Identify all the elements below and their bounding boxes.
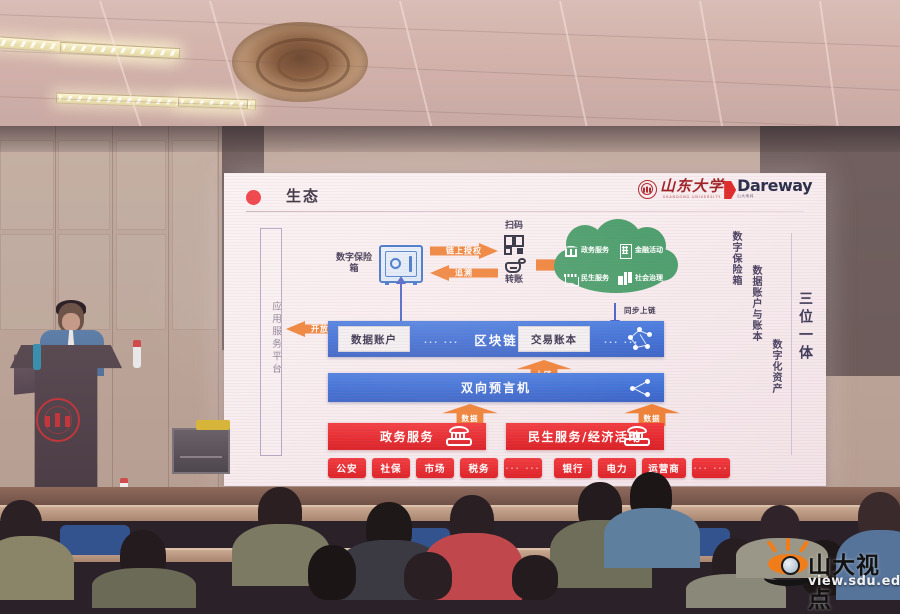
- audience-head: [404, 552, 452, 600]
- chip-data-account: 数据账户: [338, 326, 410, 352]
- ceiling: [0, 0, 900, 128]
- ceiling-panel-line: [559, 1, 592, 128]
- blockchain-bar: 数据账户 ··· ··· 区块链 交易账本 ··· ···: [328, 321, 664, 357]
- wall-column: [168, 126, 169, 506]
- audience-shoulders: [604, 508, 700, 568]
- network-nodes-icon: [628, 327, 652, 351]
- cloud-item-label: 金融活动: [635, 246, 663, 254]
- wall-dark-recess: [818, 126, 900, 376]
- chip-transaction-ledger: 交易账本: [518, 326, 590, 352]
- wall-column: [112, 126, 113, 506]
- arrow-traceability: 追溯: [430, 265, 498, 281]
- ceiling-panel-line: [699, 1, 727, 128]
- chain-dots: ··· ···: [424, 338, 459, 347]
- application-scenarios-cloud: 政务服务 金融活动 民生服务 社会治理: [554, 221, 678, 303]
- safe-dial: [390, 258, 401, 269]
- arrow-on-chain-authorization: 链上授权: [430, 243, 498, 259]
- audience-shoulders: [0, 536, 74, 600]
- university-seal-icon: [638, 180, 657, 199]
- stage-edge: [0, 487, 900, 507]
- application-service-platform-label: 应用服务平台: [262, 301, 280, 376]
- slide-content: 生态 山东大学 SHANDONG UNIVERSITY Dareway 山大地纬: [224, 173, 826, 486]
- tag-market: 市场: [416, 458, 454, 478]
- service-bar-government: 政务服务: [328, 423, 486, 450]
- digital-safe-label: 数字保险箱: [334, 253, 374, 276]
- podium-university-emblem-icon: [36, 398, 80, 442]
- seal-base: [446, 438, 472, 446]
- shop-icon: [564, 272, 578, 285]
- sync-on-chain-label: 同步上链: [624, 305, 656, 316]
- eye-logo-icon: [764, 540, 812, 584]
- connector-chain-to-safe: [400, 283, 402, 323]
- right-label-digital-asset: 数字化资产: [770, 339, 781, 394]
- money-bag-icon: [503, 257, 525, 273]
- page-title: 生态: [286, 185, 320, 206]
- qr-code-icon: [504, 235, 524, 255]
- cloud-item-label: 政务服务: [581, 246, 609, 254]
- safe-leg: [385, 281, 389, 285]
- tag-tax: 税务: [460, 458, 498, 478]
- audience-shoulders: [92, 568, 196, 608]
- oracle-bar: 双向预言机: [328, 373, 664, 402]
- eye-ray: [767, 540, 778, 553]
- cloud-item-livelihood: 民生服务: [564, 265, 616, 291]
- title-divider: [246, 211, 804, 212]
- tag-power: 电力: [598, 458, 636, 478]
- lecture-hall-scene: 生态 山东大学 SHANDONG UNIVERSITY Dareway 山大地纬: [0, 0, 900, 600]
- eye-brow: [764, 570, 812, 586]
- safe-handle: [409, 256, 412, 272]
- transfer-label: 转账: [492, 275, 536, 287]
- tag-more-left: ··· ···: [504, 458, 542, 478]
- water-bottle: [33, 344, 41, 370]
- eye-ray: [786, 538, 790, 551]
- ceiling-seam: [0, 14, 899, 46]
- audience-head: [512, 555, 558, 600]
- scan-transfer-group: 扫码 转账: [492, 221, 536, 286]
- ceiling-panel-line: [399, 1, 437, 128]
- watermark-url: view.sdu.edu.cn: [808, 574, 900, 589]
- service-bar-livelihood: 民生服务/经济活动: [506, 423, 664, 450]
- cloud-item-label: 民生服务: [581, 274, 609, 282]
- cloud-items: 政务服务 金融活动 民生服务 社会治理: [564, 237, 670, 291]
- equipment-case-top: [196, 420, 230, 430]
- audience-head: [308, 545, 356, 600]
- safe-leg: [413, 281, 417, 285]
- wall-panel: [116, 234, 166, 330]
- city-skyline-icon: [618, 272, 632, 285]
- cloud-item-governance: 社会治理: [618, 265, 670, 291]
- ceiling-panel-line: [819, 1, 840, 128]
- wall-panel: [58, 140, 110, 230]
- projection-screen: 生态 山东大学 SHANDONG UNIVERSITY Dareway 山大地纬: [224, 173, 826, 486]
- arrow-label: 开放: [311, 323, 329, 334]
- watermark: 山大视点 view.sdu.edu.cn: [762, 534, 894, 596]
- dareway-logo: Dareway 山大地纬: [724, 178, 812, 199]
- blockchain-label: 区块链: [474, 330, 518, 349]
- company-subtitle: 山大地纬: [737, 194, 754, 199]
- speaker-face: [62, 313, 80, 331]
- government-bank-icon: [564, 244, 578, 257]
- arrow-label: 链上授权: [446, 245, 482, 256]
- seal-base: [624, 438, 650, 446]
- shandong-university-logo: 山东大学 SHANDONG UNIVERSITY: [638, 179, 724, 199]
- right-label-account-ledger: 数据账户与账本: [750, 265, 761, 342]
- share-nodes-icon: [630, 379, 650, 397]
- oracle-label: 双向预言机: [461, 379, 531, 396]
- bag-slot: [510, 267, 517, 269]
- dareway-d-mark-icon: [724, 181, 736, 199]
- cloud-item-government: 政务服务: [564, 237, 616, 263]
- red-dot-icon: [246, 190, 261, 205]
- office-building-icon: [618, 244, 632, 257]
- scan-code-label: 扫码: [492, 221, 536, 233]
- tag-more-right: ··· ···: [692, 458, 730, 478]
- arrow-label: 数据: [462, 413, 479, 424]
- water-bottle: [133, 340, 141, 368]
- bag-ear: [518, 258, 526, 264]
- source-tags-row: 公安 社保 市场 税务 ··· ··· 银行 电力 运营商 ··· ···: [328, 458, 664, 478]
- official-seal-icon: [624, 426, 650, 446]
- tag-social-security: 社保: [372, 458, 410, 478]
- official-seal-icon: [446, 426, 472, 446]
- tag-public-security: 公安: [328, 458, 366, 478]
- wall-panel: [0, 234, 54, 330]
- equipment-road-case: [172, 428, 230, 474]
- wall-panel: [172, 140, 218, 330]
- arrow-label: 数据: [644, 413, 661, 424]
- cloud-item-finance: 金融活动: [618, 237, 670, 263]
- right-label-digital-safe: 数字保险箱: [730, 231, 741, 286]
- right-divider: [791, 233, 792, 455]
- company-name: Dareway: [737, 178, 812, 194]
- wall-shadow-band: [0, 126, 900, 152]
- arrow-label: 追溯: [455, 267, 473, 278]
- wall-panel: [0, 140, 54, 230]
- university-name-cn: 山东大学: [660, 179, 724, 194]
- service-bar-label: 政务服务: [380, 428, 434, 445]
- cloud-item-label: 社会治理: [635, 274, 663, 282]
- tag-bank: 银行: [554, 458, 592, 478]
- right-headline: 三位一体: [797, 291, 812, 363]
- ceiling-seam: [0, 50, 899, 90]
- university-name-en: SHANDONG UNIVERSITY: [663, 196, 721, 199]
- wall-panel: [116, 140, 166, 230]
